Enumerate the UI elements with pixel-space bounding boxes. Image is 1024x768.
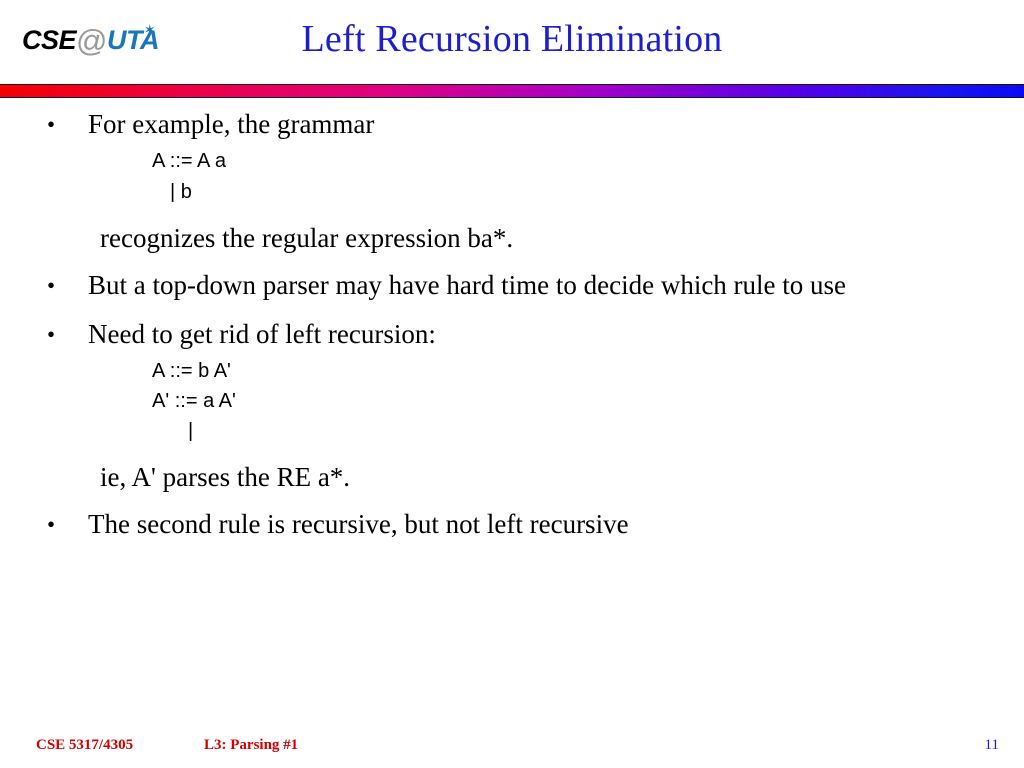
bullet-item-3: • Need to get rid of left recursion: [0,318,1024,351]
bullet-dot-icon: • [47,508,55,541]
slide-header: CSE@UTA ✶ Left Recursion Elimination [0,0,1024,80]
grammar-1-line-2: | b [0,179,1024,205]
footer-lecture-title: L3: Parsing #1 [204,736,298,754]
bullet-item-1: • For example, the grammar [0,108,1024,141]
slide-footer: CSE 5317/4305 L3: Parsing #1 11 [0,728,1024,768]
bullet-dot-icon: • [47,269,55,302]
grammar-2-line-1: A ::= b A' [0,358,1024,384]
bullet-4-text: The second rule is recursive, but not le… [88,509,629,539]
bullet-dot-icon: • [47,108,55,141]
bullet-dot-icon: • [47,318,55,351]
footer-course-code: CSE 5317/4305 [36,736,133,754]
slide-body: • For example, the grammar A ::= A a | b… [0,100,1024,541]
grammar-1-line-1: A ::= A a [0,148,1024,174]
bullet-item-4: • The second rule is recursive, but not … [0,508,1024,541]
grammar-2-line-3: | [0,418,1024,444]
page-title: Left Recursion Elimination [0,16,1024,62]
bullet-item-2: • But a top-down parser may have hard ti… [0,269,1024,302]
bullet-2-text: But a top-down parser may have hard time… [88,270,846,300]
footer-page-number: 11 [985,736,999,754]
bullet-3-text: Need to get rid of left recursion: [88,319,436,349]
bullet-1-text: For example, the grammar [88,109,374,139]
note-2-text: ie, A' parses the RE a*. [0,461,1024,494]
gradient-rule [0,84,1024,98]
grammar-2-line-2: A' ::= a A' [0,388,1024,414]
note-1-text: recognizes the regular expression ba*. [0,222,1024,255]
header-divider [0,84,1024,98]
